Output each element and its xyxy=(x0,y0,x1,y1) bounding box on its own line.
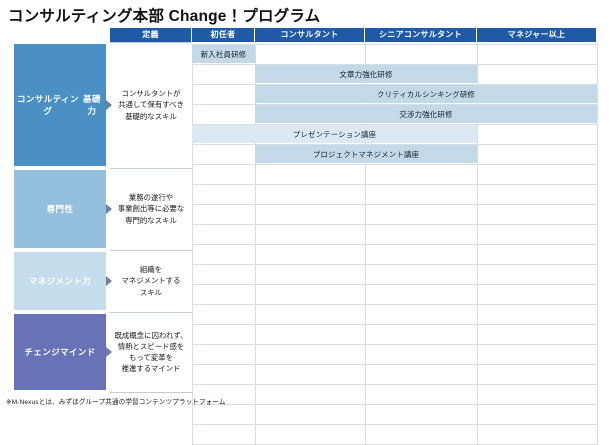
definition-separator-1 xyxy=(110,250,192,251)
row-gridline xyxy=(192,344,597,345)
column-gridline xyxy=(255,44,256,444)
row-gridline xyxy=(192,424,597,425)
column-header-senior: シニアコンサルタント xyxy=(365,28,477,42)
definition-separator-top xyxy=(110,42,192,43)
column-header-consultant: コンサルタント xyxy=(255,28,365,42)
category-box-1: 専門性 xyxy=(14,170,106,248)
page-title: コンサルティング本部 Change！プログラム xyxy=(8,4,320,26)
definition-text-0: コンサルタントが共通して保有すべき基礎的なスキル xyxy=(112,44,190,166)
category-box-0: コンサルティング基礎力 xyxy=(14,44,106,166)
column-gridline xyxy=(597,44,598,444)
program-bar[interactable]: クリティカルシンキング研修 xyxy=(255,85,597,103)
row-gridline xyxy=(192,164,597,165)
row-gridline xyxy=(192,304,597,305)
column-gridline xyxy=(365,44,366,444)
program-bar[interactable]: プレゼンテーション講座 xyxy=(192,125,477,143)
column-gridline xyxy=(477,44,478,444)
definition-text-3: 既成概念に囚われず、情熱とスピード感をもって変革を推進するマインド xyxy=(112,314,190,390)
program-bar[interactable]: 新入社員研修 xyxy=(192,45,255,63)
program-bar[interactable]: 文章力強化研修 xyxy=(255,65,477,83)
column-header-definition: 定義 xyxy=(110,28,192,42)
definition-text-2: 組織をマネジメントするスキル xyxy=(112,252,190,310)
definition-separator-2 xyxy=(110,312,192,313)
definition-separator-3 xyxy=(110,392,192,393)
row-gridline xyxy=(192,264,597,265)
column-header-beginner: 初任者 xyxy=(192,28,255,42)
program-bar[interactable]: 交渉力強化研修 xyxy=(255,105,597,123)
row-gridline xyxy=(192,404,597,405)
definition-separator-0 xyxy=(110,168,192,169)
category-box-3: チェンジマインド xyxy=(14,314,106,390)
row-gridline xyxy=(192,384,597,385)
program-bar[interactable]: プロジェクトマネジメント講座 xyxy=(255,145,477,163)
program-matrix-chart: 定義初任者コンサルタントシニアコンサルタントマネジャー以上 コンサルティング基礎… xyxy=(0,28,613,388)
row-gridline xyxy=(192,284,597,285)
row-gridline xyxy=(192,364,597,365)
row-gridline xyxy=(192,204,597,205)
row-gridline xyxy=(192,324,597,325)
row-gridline xyxy=(192,244,597,245)
category-box-2: マネジメント力 xyxy=(14,252,106,310)
row-gridline xyxy=(192,224,597,225)
column-header-manager: マネジャー以上 xyxy=(477,28,597,42)
row-gridline xyxy=(192,184,597,185)
definition-text-1: 業務の遂行や事業創出等に必要な専門的なスキル xyxy=(112,170,190,248)
footnote: ※M-Nexusとは、みずほグループ共通の学習コンテンツプラットフォーム xyxy=(6,396,226,406)
column-gridline xyxy=(192,44,193,444)
